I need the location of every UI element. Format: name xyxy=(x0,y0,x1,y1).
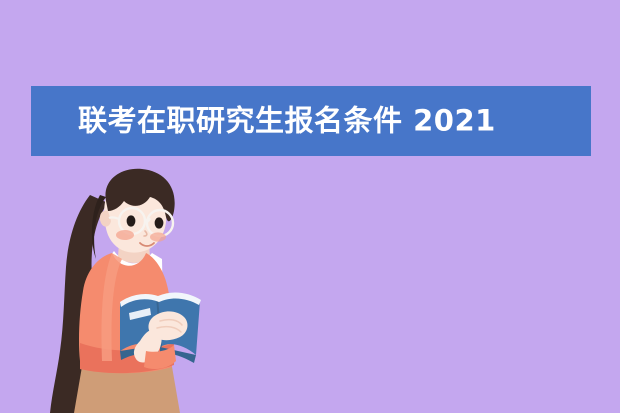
page-canvas: 联考在职研究生报名条件 2021 xyxy=(0,0,620,413)
blush-right xyxy=(150,232,166,241)
blush-left xyxy=(116,230,134,240)
title-banner: 联考在职研究生报名条件 2021 xyxy=(31,86,591,156)
page-title: 联考在职研究生报名条件 2021 xyxy=(78,107,496,136)
woman-reading-book-illustration xyxy=(28,155,228,413)
eye-left xyxy=(127,215,136,226)
eye-right xyxy=(155,217,164,228)
